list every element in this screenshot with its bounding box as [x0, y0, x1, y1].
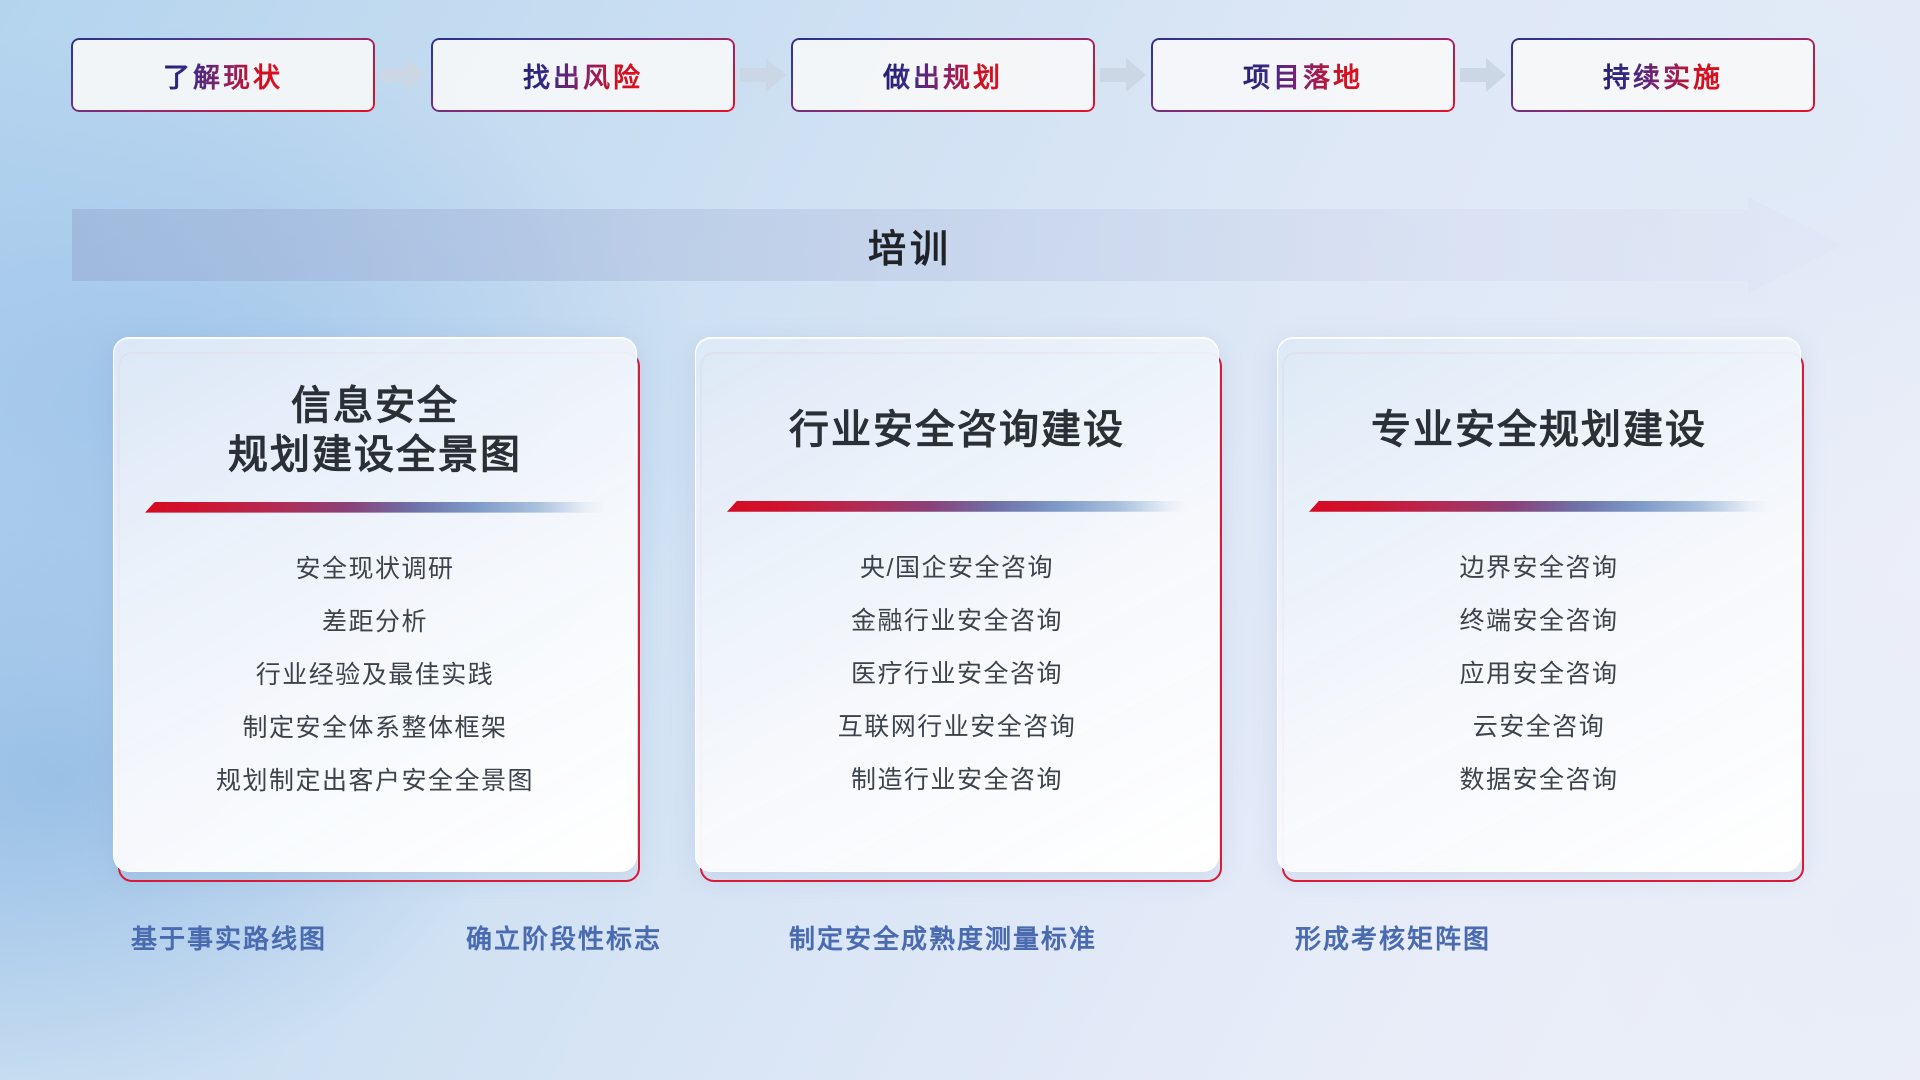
- bottom-label-1: 基于事实路线图: [131, 919, 327, 956]
- training-banner: 培训: [72, 197, 1844, 293]
- list-item: 应用安全咨询: [1459, 654, 1618, 690]
- list-item: 云安全咨询: [1473, 707, 1606, 743]
- step-box-4[interactable]: 项目落地: [1151, 38, 1455, 112]
- card-1-title: 信息安全 规划建设全景图: [145, 382, 605, 480]
- card-3-title: 专业安全规划建设: [1304, 406, 1774, 455]
- card-3-divider: [1309, 501, 1769, 512]
- slide-canvas: 了解现状 找出风险 做出规划: [0, 0, 1920, 1080]
- card-1[interactable]: 信息安全 规划建设全景图 安全现状调研 差距分析 行业经验及最佳实践 制定安全体…: [113, 337, 637, 872]
- card-2-divider: [727, 501, 1187, 512]
- step-label-2: 找出风险: [523, 56, 643, 95]
- list-item: 制造行业安全咨询: [851, 760, 1063, 796]
- step-box-1[interactable]: 了解现状: [71, 38, 375, 112]
- process-step-1[interactable]: 了解现状: [71, 38, 375, 112]
- list-item: 安全现状调研: [295, 549, 454, 585]
- list-item: 制定安全体系整体框架: [242, 708, 507, 744]
- step-label-3: 做出规划: [883, 56, 1003, 95]
- banner-label: 培训: [72, 209, 1748, 281]
- card-3-list: 边界安全咨询 终端安全咨询 应用安全咨询 云安全咨询 数据安全咨询: [1459, 548, 1618, 796]
- step-box-3[interactable]: 做出规划: [791, 38, 1095, 112]
- step-label-5: 持续实施: [1603, 56, 1723, 95]
- bottom-label-3: 制定安全成熟度测量标准: [789, 919, 1097, 956]
- arrow-right-icon: [1095, 38, 1151, 112]
- process-step-5[interactable]: 持续实施: [1511, 38, 1815, 112]
- list-item: 央/国企安全咨询: [860, 548, 1054, 584]
- step-label-4: 项目落地: [1243, 56, 1363, 95]
- step-box-5[interactable]: 持续实施: [1511, 38, 1815, 112]
- bottom-label-2: 确立阶段性标志: [466, 919, 662, 956]
- list-item: 互联网行业安全咨询: [838, 707, 1077, 743]
- process-steps-row: 了解现状 找出风险 做出规划: [0, 0, 1920, 150]
- list-item: 规划制定出客户安全全景图: [216, 761, 534, 797]
- list-item: 差距分析: [322, 602, 428, 638]
- step-box-2[interactable]: 找出风险: [431, 38, 735, 112]
- card-1-list: 安全现状调研 差距分析 行业经验及最佳实践 制定安全体系整体框架 规划制定出客户…: [216, 549, 534, 797]
- list-item: 数据安全咨询: [1459, 760, 1618, 796]
- card-2[interactable]: 行业安全咨询建设 央/国企安全咨询 金融行业安全咨询 医疗行业安全咨询 互联网行…: [695, 337, 1219, 872]
- arrow-right-icon: [375, 38, 431, 112]
- list-item: 边界安全咨询: [1459, 548, 1618, 584]
- list-item: 金融行业安全咨询: [851, 601, 1063, 637]
- card-2-title: 行业安全咨询建设: [722, 406, 1192, 455]
- card-1-divider: [145, 502, 605, 513]
- card-3[interactable]: 专业安全规划建设 边界安全咨询 终端安全咨询 应用安全咨询 云安全咨询 数据安全…: [1277, 337, 1801, 872]
- list-item: 医疗行业安全咨询: [851, 654, 1063, 690]
- card-2-list: 央/国企安全咨询 金融行业安全咨询 医疗行业安全咨询 互联网行业安全咨询 制造行…: [838, 548, 1077, 796]
- arrow-right-icon: [1455, 38, 1511, 112]
- process-step-4[interactable]: 项目落地: [1151, 38, 1455, 112]
- step-label-1: 了解现状: [163, 56, 283, 95]
- bottom-label-4: 形成考核矩阵图: [1295, 919, 1491, 956]
- arrow-right-icon: [735, 38, 791, 112]
- list-item: 终端安全咨询: [1459, 601, 1618, 637]
- process-step-2[interactable]: 找出风险: [431, 38, 735, 112]
- list-item: 行业经验及最佳实践: [256, 655, 495, 691]
- process-step-3[interactable]: 做出规划: [791, 38, 1095, 112]
